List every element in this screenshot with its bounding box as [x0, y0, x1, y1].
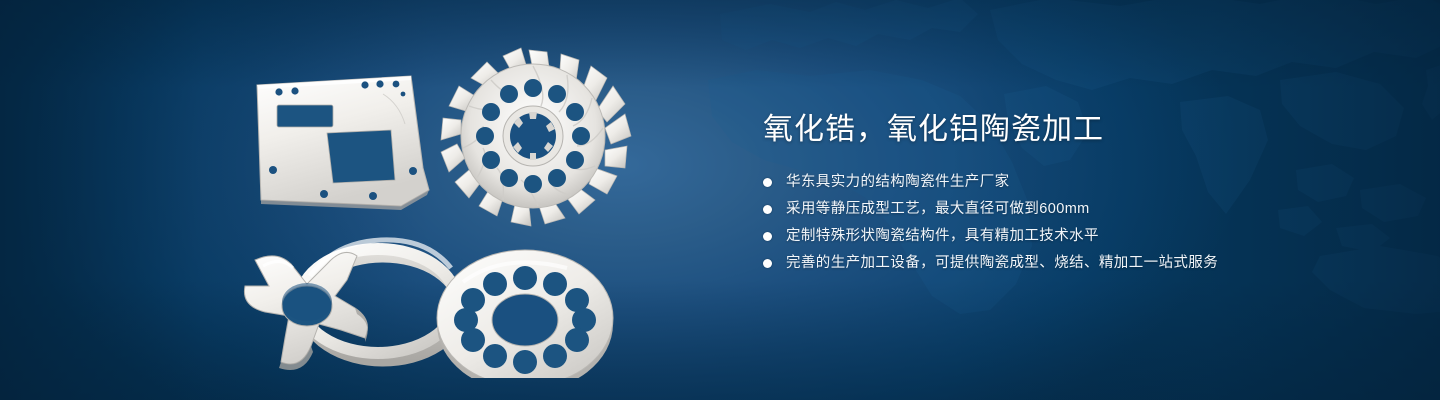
- bullet-dot-icon: [763, 178, 772, 187]
- feature-item: 采用等静压成型工艺，最大直径可做到600mm: [763, 199, 1383, 219]
- feature-label: 完善的生产加工设备，可提供陶瓷成型、烧结、精加工一站式服务: [786, 253, 1218, 273]
- feature-item: 定制特殊形状陶瓷结构件，具有精加工技术水平: [763, 226, 1383, 246]
- feature-item: 完善的生产加工设备，可提供陶瓷成型、烧结、精加工一站式服务: [763, 253, 1383, 273]
- feature-label: 采用等静压成型工艺，最大直径可做到600mm: [786, 199, 1090, 219]
- banner-headline: 氧化锆，氧化铝陶瓷加工: [763, 110, 1383, 150]
- ceramic-bladed-impeller-shape: [441, 48, 631, 226]
- bullet-dot-icon: [763, 259, 772, 268]
- feature-label: 定制特殊形状陶瓷结构件，具有精加工技术水平: [786, 226, 1099, 246]
- ceramic-products-photo: [215, 28, 735, 378]
- banner-feature-list: 华东具实力的结构陶瓷件生产厂家 采用等静压成型工艺，最大直径可做到600mm 定…: [763, 172, 1383, 273]
- bullet-dot-icon: [763, 232, 772, 241]
- ceramic-machined-plate-shape: [257, 76, 429, 210]
- promo-banner: 氧化锆，氧化铝陶瓷加工 华东具实力的结构陶瓷件生产厂家 采用等静压成型工艺，最大…: [0, 0, 1440, 400]
- bullet-dot-icon: [763, 205, 772, 214]
- banner-copy: 氧化锆，氧化铝陶瓷加工 华东具实力的结构陶瓷件生产厂家 采用等静压成型工艺，最大…: [763, 110, 1383, 280]
- feature-label: 华东具实力的结构陶瓷件生产厂家: [786, 172, 1010, 192]
- ceramic-perforated-ring-disc-shape: [437, 250, 613, 378]
- feature-item: 华东具实力的结构陶瓷件生产厂家: [763, 172, 1383, 192]
